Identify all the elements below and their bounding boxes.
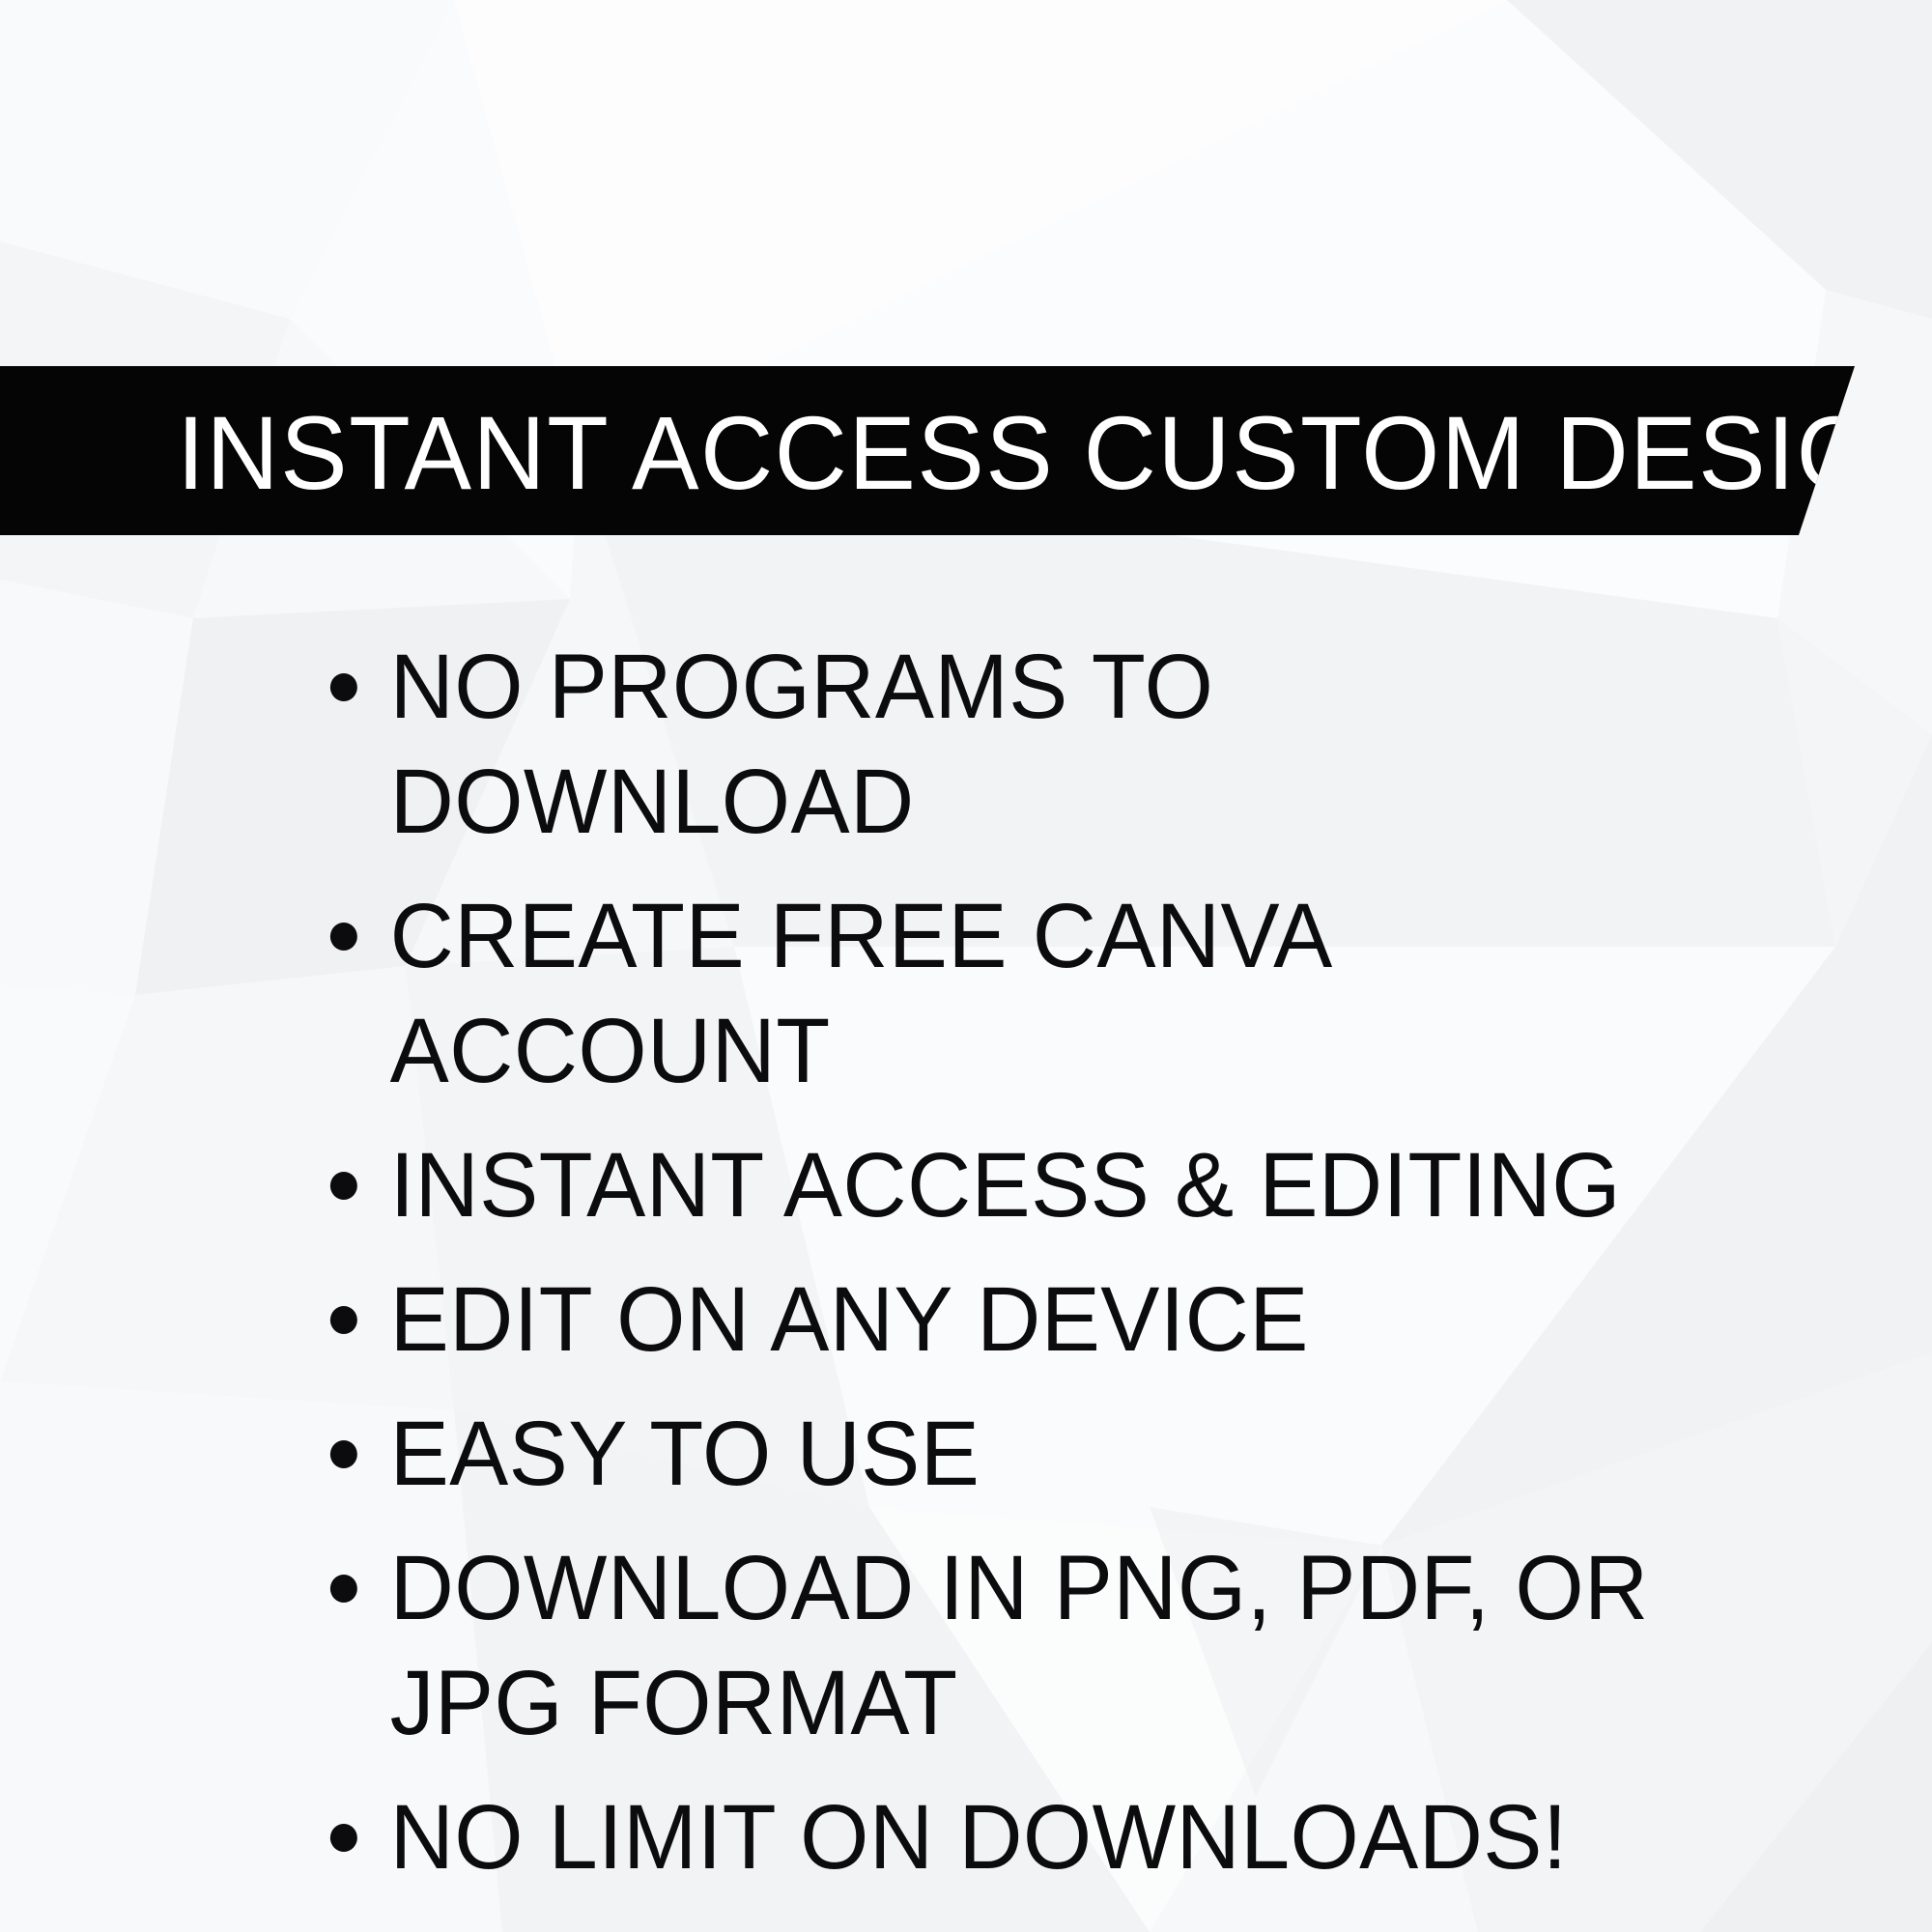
list-item-label: DOWNLOAD IN PNG, PDF, OR JPG FORMAT xyxy=(390,1531,1725,1761)
list-item-label: NO PROGRAMS TO DOWNLOAD xyxy=(390,630,1725,860)
list-item: DOWNLOAD IN PNG, PDF, OR JPG FORMAT xyxy=(327,1531,1725,1761)
bullet-icon xyxy=(330,923,357,951)
list-item-label: EASY TO USE xyxy=(390,1397,1725,1512)
bullet-icon xyxy=(330,1172,357,1200)
list-item: CREATE FREE CANVA ACCOUNT xyxy=(327,879,1725,1109)
bullet-icon xyxy=(330,1306,357,1334)
bullet-icon xyxy=(330,1824,357,1852)
list-item: EASY TO USE xyxy=(327,1397,1725,1512)
title-banner: INSTANT ACCESS CUSTOM DESIGNS xyxy=(0,366,1855,535)
list-item: INSTANT ACCESS & EDITING xyxy=(327,1128,1725,1243)
list-item: NO PROGRAMS TO DOWNLOAD xyxy=(327,630,1725,860)
bullet-icon xyxy=(330,673,357,701)
list-item-label: EDIT ON ANY DEVICE xyxy=(390,1263,1725,1378)
page-title: INSTANT ACCESS CUSTOM DESIGNS xyxy=(177,401,1932,505)
list-item-label: CREATE FREE CANVA ACCOUNT xyxy=(390,879,1725,1109)
list-item-label: NO LIMIT ON DOWNLOADS! xyxy=(390,1780,1725,1895)
list-item: NO LIMIT ON DOWNLOADS! xyxy=(327,1780,1725,1895)
list-item-label: INSTANT ACCESS & EDITING xyxy=(390,1128,1725,1243)
bullet-icon xyxy=(330,1575,357,1603)
bullet-icon xyxy=(330,1440,357,1468)
list-item: EDIT ON ANY DEVICE xyxy=(327,1263,1725,1378)
feature-list: NO PROGRAMS TO DOWNLOAD CREATE FREE CANV… xyxy=(327,630,1776,1915)
poster-canvas: INSTANT ACCESS CUSTOM DESIGNS NO PROGRAM… xyxy=(0,0,1932,1932)
